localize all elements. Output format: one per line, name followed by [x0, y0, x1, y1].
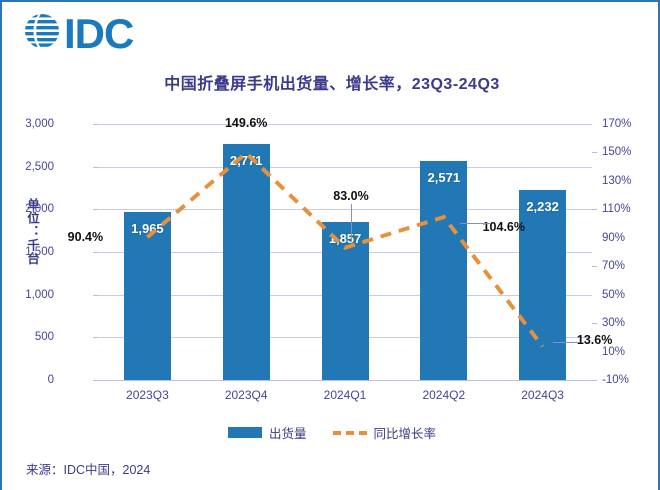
y-tick-left: 1,500: [0, 246, 54, 258]
y-tick-right: 110%: [602, 203, 660, 215]
plot-area: 1,9652,7711,8572,5712,232 90.4%149.6%83.…: [98, 124, 592, 380]
x-tick-2023Q4: 2023Q4: [225, 388, 268, 402]
y-tickmark-left: [93, 380, 98, 381]
chart-slide: IDC 中国折叠屏手机出货量、增长率，23Q3-24Q3 单位：千台 1,965…: [0, 0, 660, 490]
legend-label-shipments: 出货量: [269, 423, 307, 442]
page-title: 中国折叠屏手机出货量、增长率，23Q3-24Q3: [2, 70, 660, 94]
y-tick-left: 2,000: [0, 203, 54, 215]
y-tickmark-right: [592, 209, 597, 210]
y-tick-right: 90%: [602, 232, 660, 244]
y-tickmark-left: [93, 167, 98, 168]
x-tick-2024Q2: 2024Q2: [422, 388, 465, 402]
label-leader-line: [351, 204, 352, 242]
source-note: 来源：IDC中国，2024: [26, 459, 150, 478]
y-tick-right: 50%: [602, 289, 660, 301]
growth-rate-line: [147, 153, 542, 346]
y-tick-right: 30%: [602, 317, 660, 329]
label-leader-line: [553, 342, 579, 343]
y-tickmark-right: [592, 152, 597, 153]
y-tick-left: 2,500: [0, 161, 54, 173]
y-tick-left: 0: [0, 374, 54, 386]
x-tick-2024Q3: 2024Q3: [521, 388, 564, 402]
y-tickmark-left: [93, 124, 98, 125]
x-tick-2023Q3: 2023Q3: [126, 388, 169, 402]
y-tick-right: 170%: [602, 118, 660, 130]
y-tick-right: 10%: [602, 346, 660, 358]
growth-rate-label-2023Q3: 90.4%: [68, 230, 103, 244]
growth-rate-label-2023Q4: 149.6%: [225, 116, 267, 130]
y-tickmark-right: [592, 323, 597, 324]
line-series: [98, 124, 592, 380]
idc-wordmark: IDC: [64, 13, 133, 55]
y-tickmark-right: [592, 266, 597, 267]
y-tickmark-left: [93, 295, 98, 296]
x-axis-line: [98, 380, 592, 381]
legend-item-growth-rate[interactable]: 同比增长率: [333, 423, 437, 442]
label-leader-line: [460, 223, 490, 224]
legend: 出货量 同比增长率: [2, 423, 660, 442]
y-tick-right: -10%: [602, 374, 660, 386]
x-tick-2024Q1: 2024Q1: [324, 388, 367, 402]
y-tickmark-left: [93, 209, 98, 210]
y-tick-right: 130%: [602, 175, 660, 187]
growth-rate-label-2024Q1: 83.0%: [333, 189, 368, 203]
y-tickmark-left: [93, 252, 98, 253]
y-tick-right: 70%: [602, 260, 660, 272]
y-tick-left: 500: [0, 331, 54, 343]
legend-bar-swatch-icon: [228, 427, 262, 438]
y-tickmark-right: [592, 380, 597, 381]
y-tick-left: 3,000: [0, 118, 54, 130]
legend-label-growth-rate: 同比增长率: [374, 423, 437, 442]
y-tick-right: 150%: [602, 146, 660, 158]
idc-logo: IDC: [22, 11, 133, 56]
legend-item-shipments[interactable]: 出货量: [228, 423, 307, 442]
y-tick-left: 1,000: [0, 289, 54, 301]
legend-line-swatch-icon: [333, 431, 367, 435]
idc-globe-icon: [22, 11, 62, 56]
y-tickmark-left: [93, 337, 98, 338]
